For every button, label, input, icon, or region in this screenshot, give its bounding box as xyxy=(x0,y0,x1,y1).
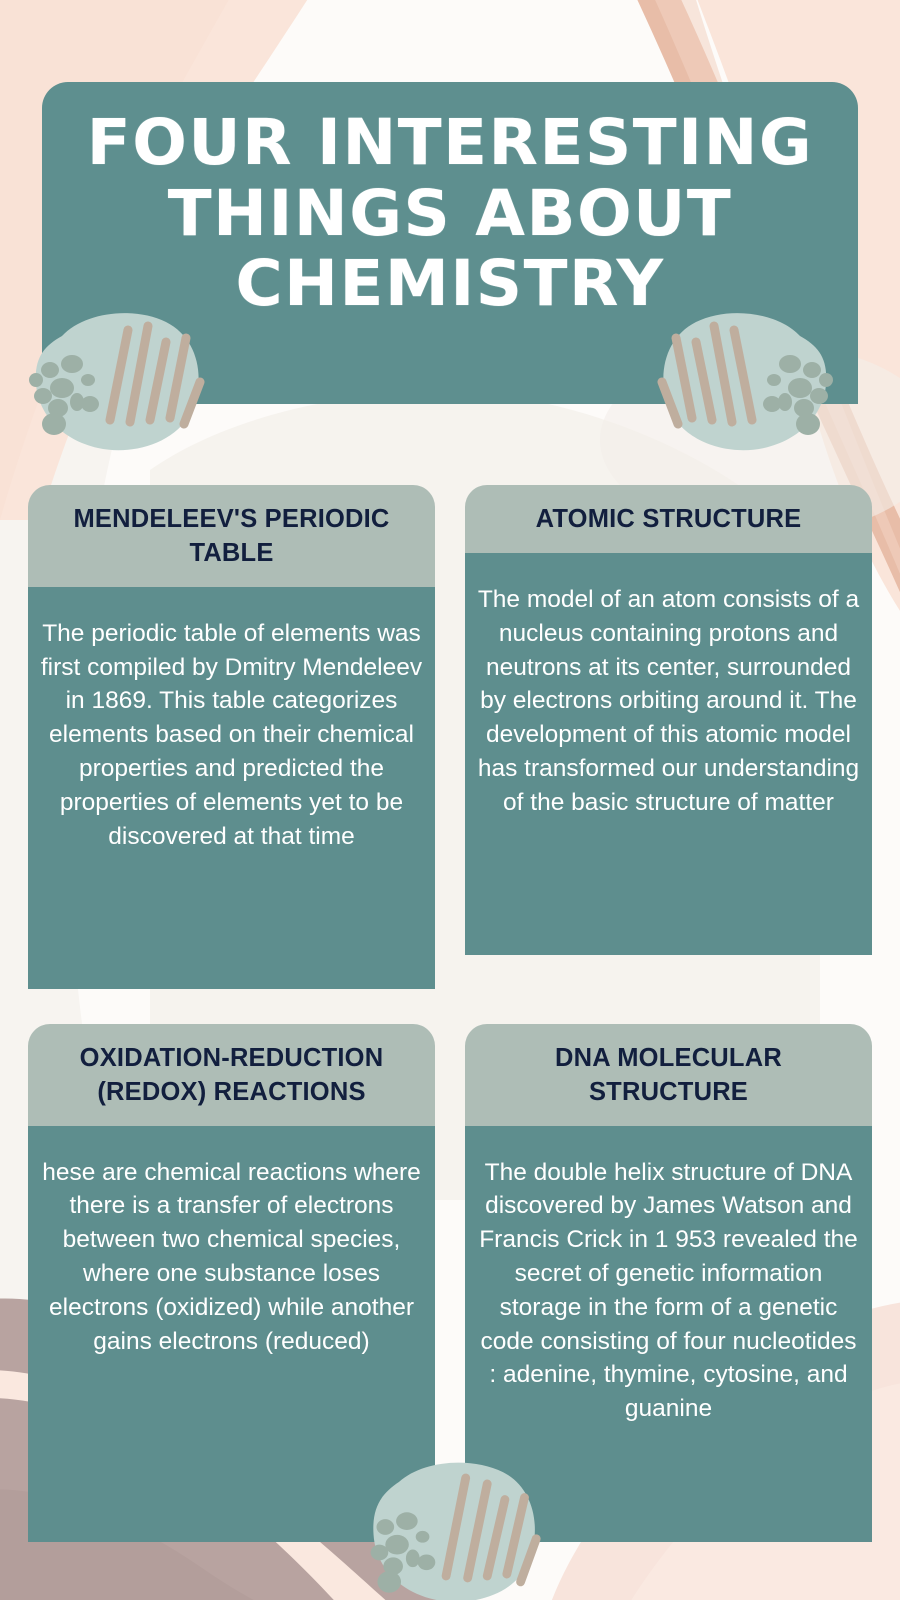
card-heading: DNA MOLECULAR STRUCTURE xyxy=(465,1024,872,1126)
card-grid: MENDELEEV'S PERIODIC TABLE The periodic … xyxy=(28,485,872,1577)
card-heading: MENDELEEV'S PERIODIC TABLE xyxy=(28,485,435,587)
card-body-text: The model of an atom consists of a nucle… xyxy=(465,553,872,955)
card-oxidation-reduction-reactions: OXIDATION-REDUCTION (REDOX) REACTIONS he… xyxy=(28,1024,435,1542)
card-heading: ATOMIC STRUCTURE xyxy=(465,485,872,553)
card-atomic-structure: ATOMIC STRUCTURE The model of an atom co… xyxy=(465,485,872,989)
page-title-line-3: CHEMISTRY xyxy=(69,249,832,320)
card-row-bottom: OXIDATION-REDUCTION (REDOX) REACTIONS he… xyxy=(28,1024,872,1542)
page-title-line-2: THINGS ABOUT xyxy=(69,179,832,250)
page-title-line-1: FOUR INTERESTING xyxy=(69,108,832,179)
infographic-page: FOUR INTERESTING THINGS ABOUT CHEMISTRY xyxy=(0,0,900,1600)
card-dna-molecular-structure: DNA MOLECULAR STRUCTURE The double helix… xyxy=(465,1024,872,1542)
title-banner: FOUR INTERESTING THINGS ABOUT CHEMISTRY xyxy=(42,82,858,404)
card-body-text: The periodic table of elements was first… xyxy=(28,587,435,989)
card-body-text: hese are chemical reactions where there … xyxy=(28,1126,435,1542)
card-row-top: MENDELEEV'S PERIODIC TABLE The periodic … xyxy=(28,485,872,989)
card-mendeleevs-periodic-table: MENDELEEV'S PERIODIC TABLE The periodic … xyxy=(28,485,435,989)
card-heading: OXIDATION-REDUCTION (REDOX) REACTIONS xyxy=(28,1024,435,1126)
card-body-text: The double helix structure of DNA discov… xyxy=(465,1126,872,1542)
page-title: FOUR INTERESTING THINGS ABOUT CHEMISTRY xyxy=(34,108,866,320)
